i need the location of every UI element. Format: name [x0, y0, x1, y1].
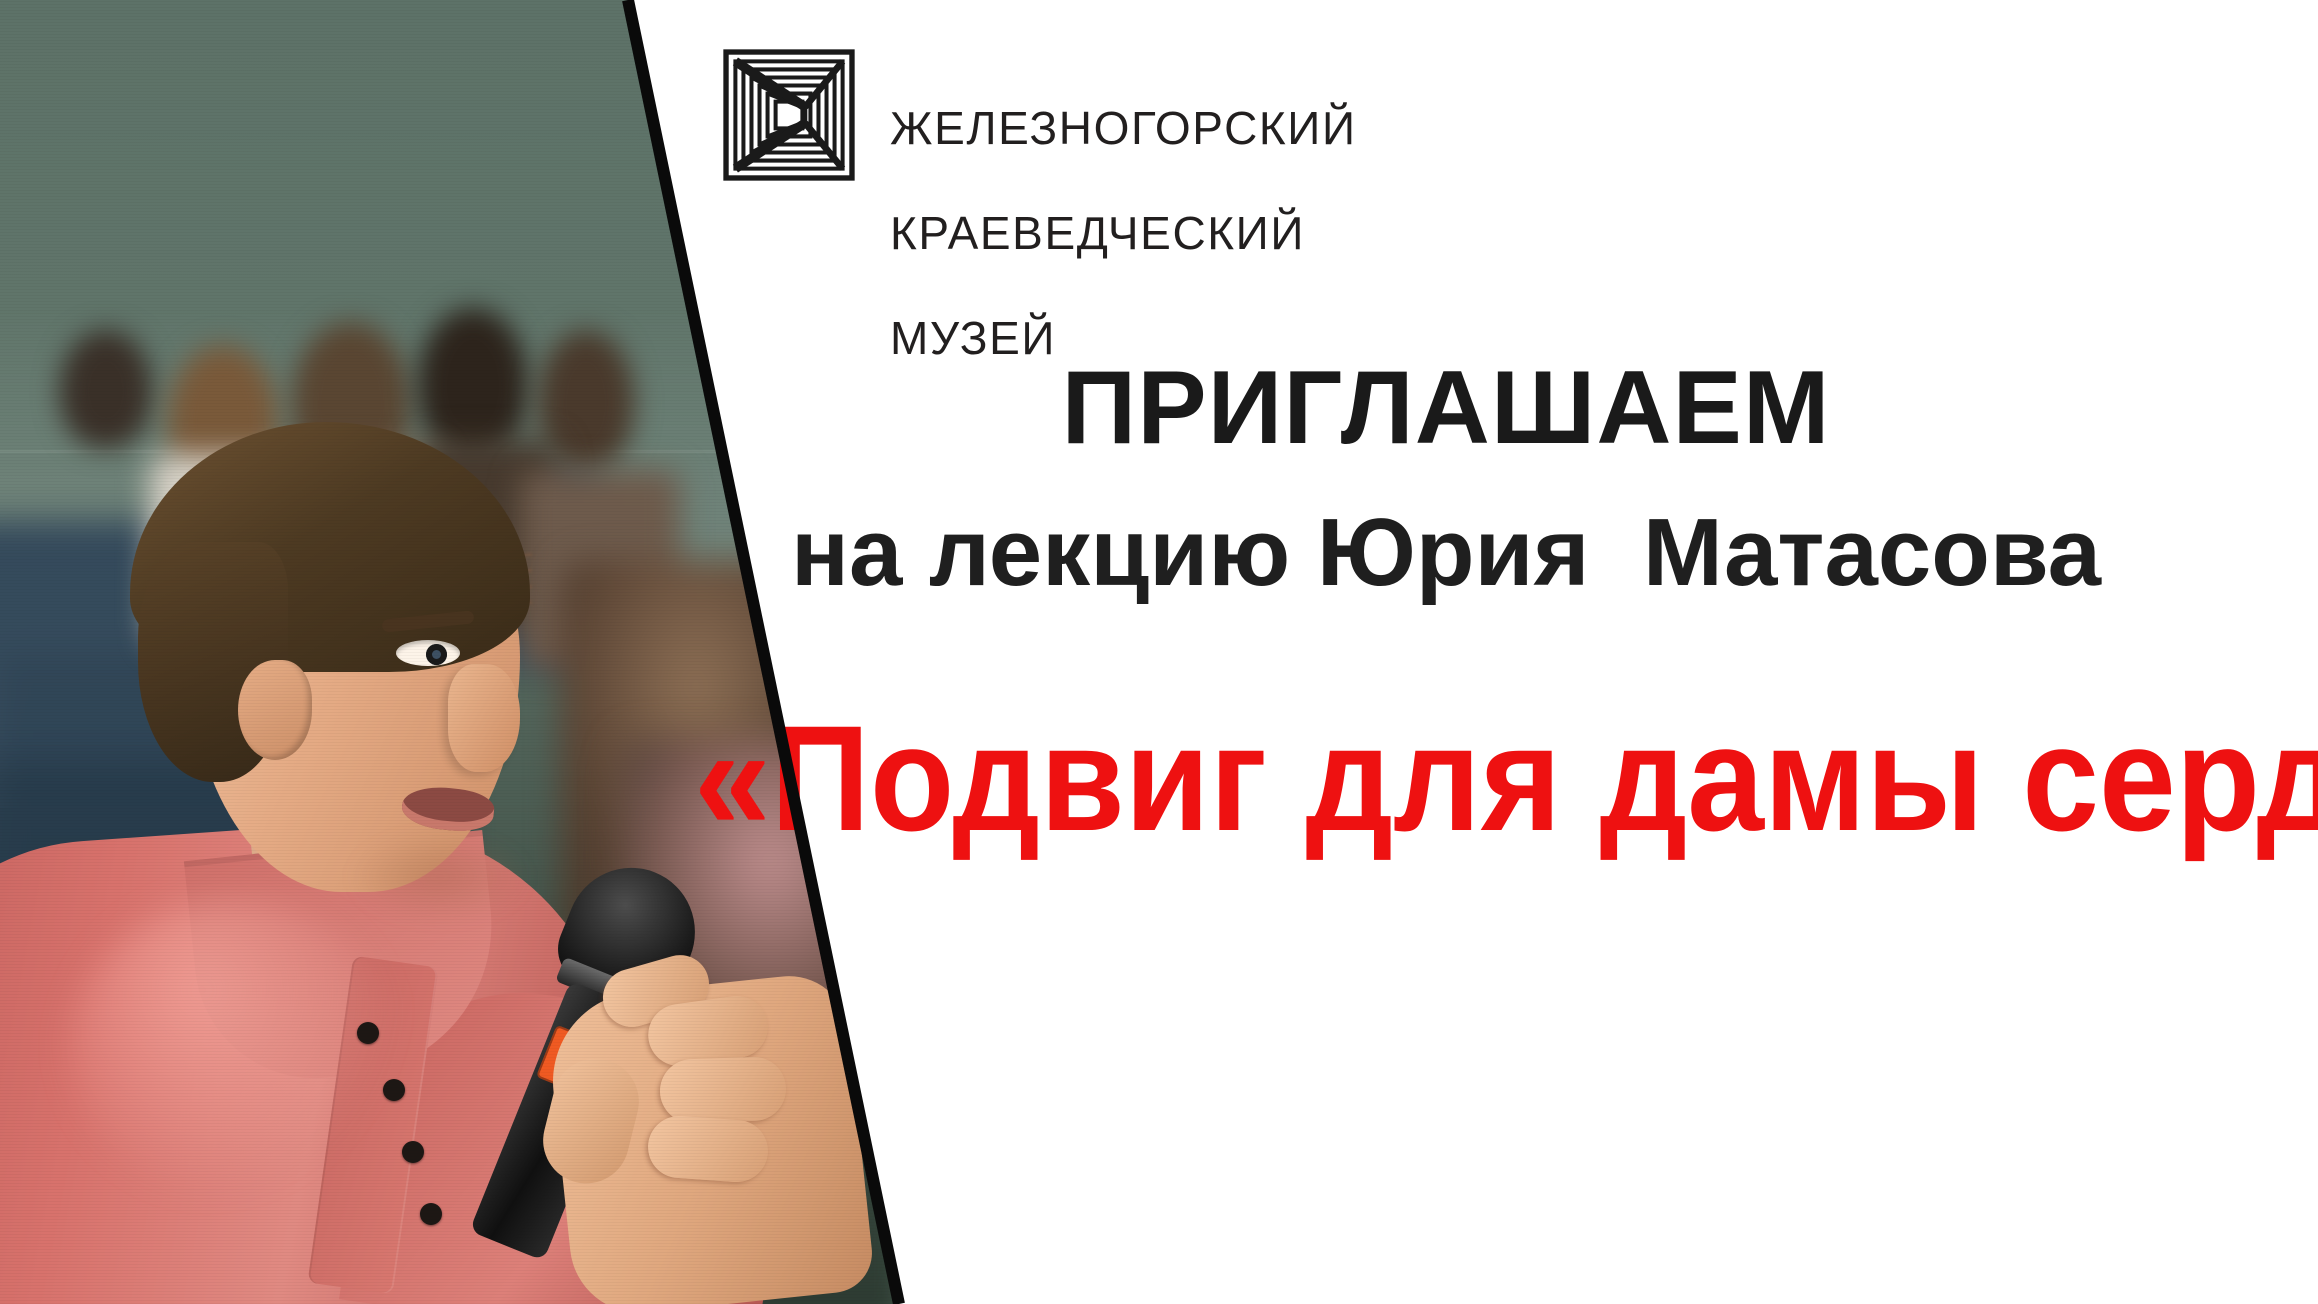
lecture-title: «Подвиг для дамы сердца» [694, 700, 2212, 858]
invitation-headline: ПРИГЛАШАЕМ [628, 352, 2264, 464]
logo-line-1: ЖЕЛЕЗНОГОРСКИЙ [890, 102, 1357, 154]
nested-squares-museum-logo-icon [722, 48, 856, 182]
event-poster: ЖЕЛЕЗНОГОРСКИЙ КРАЕВЕДЧЕСКИЙ МУЗЕЙ ПРИГЛ… [0, 0, 2318, 1304]
lecture-speaker-line: на лекцию Юрия Матасова [628, 500, 2264, 606]
logo-line-2: КРАЕВЕДЧЕСКИЙ [890, 207, 1357, 259]
